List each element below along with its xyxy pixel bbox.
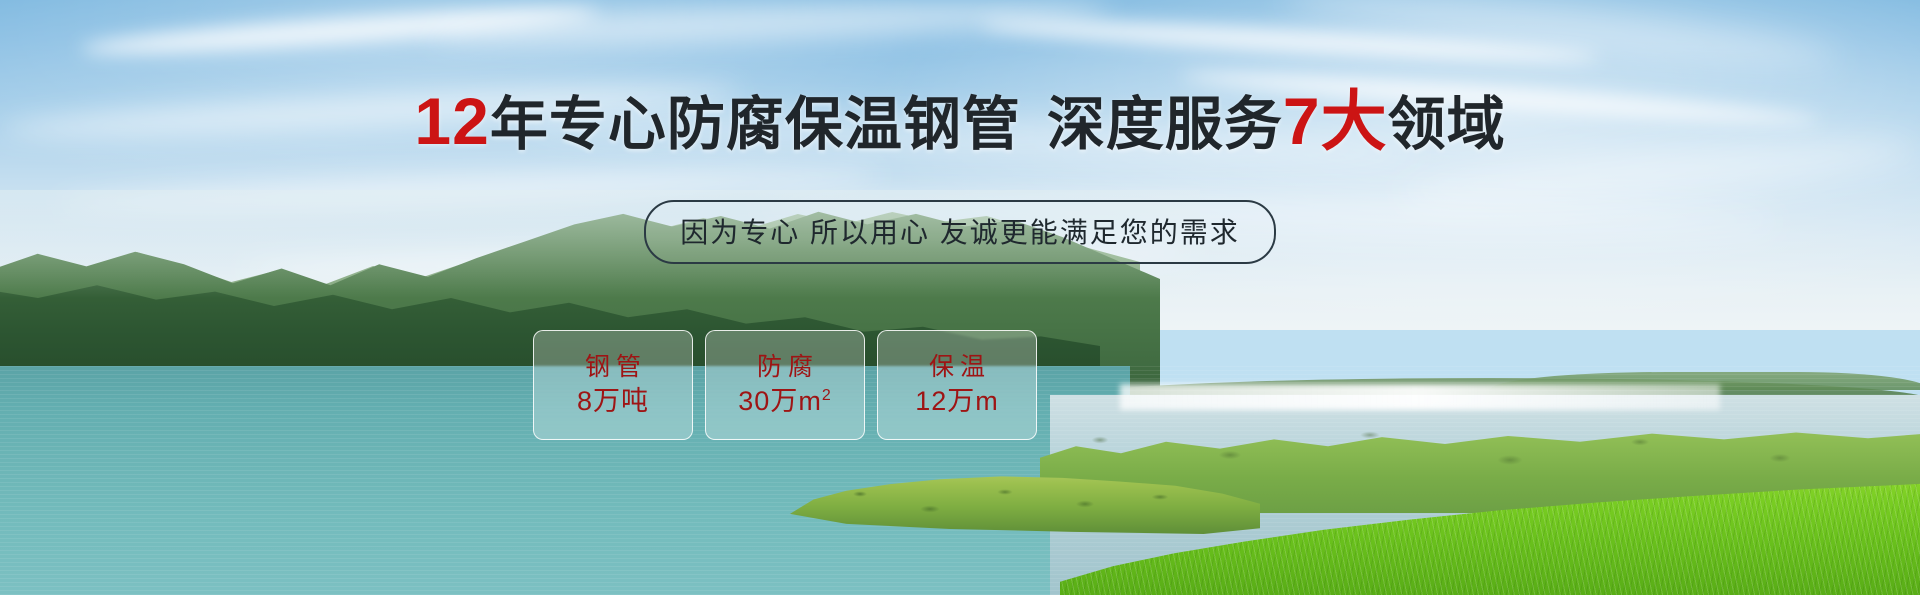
stat-card-group: 钢管 8万吨 防腐 30万m2 保温 12万m [533, 330, 1037, 440]
headline-years-number: 12 [414, 84, 489, 158]
banner-content: 12年专心防腐保温钢管深度服务7大领域 因为专心 所以用心 友诚更能满足您的需求… [0, 0, 1920, 595]
stat-card-label: 钢管 [579, 355, 647, 380]
headline-service-text: 深度服务 [1047, 92, 1283, 157]
stat-value-superscript: 2 [822, 387, 832, 404]
headline-fields-text: 领域 [1388, 92, 1506, 157]
stat-card-anticorrosion: 防腐 30万m2 [705, 330, 865, 440]
banner-headline: 12年专心防腐保温钢管深度服务7大领域 [0, 88, 1920, 154]
headline-fields-number: 7大 [1283, 84, 1388, 158]
headline-main-text: 年专心防腐保温钢管 [490, 92, 1021, 157]
stat-card-value: 30万m2 [738, 388, 831, 415]
hero-banner: 12年专心防腐保温钢管深度服务7大领域 因为专心 所以用心 友诚更能满足您的需求… [0, 0, 1920, 595]
stat-card-label: 防腐 [751, 355, 819, 380]
stat-value-text: 12万m [915, 386, 999, 416]
banner-subtitle: 因为专心 所以用心 友诚更能满足您的需求 [644, 200, 1276, 264]
banner-subtitle-container: 因为专心 所以用心 友诚更能满足您的需求 [0, 200, 1920, 264]
stat-value-text: 8万吨 [577, 386, 649, 416]
stat-value-text: 30万m [738, 386, 822, 416]
stat-card-value: 8万吨 [577, 388, 649, 415]
stat-card-insulation: 保温 12万m [877, 330, 1037, 440]
stat-card-value: 12万m [915, 388, 999, 415]
stat-card-label: 保温 [923, 355, 991, 380]
stat-card-steel-pipe: 钢管 8万吨 [533, 330, 693, 440]
